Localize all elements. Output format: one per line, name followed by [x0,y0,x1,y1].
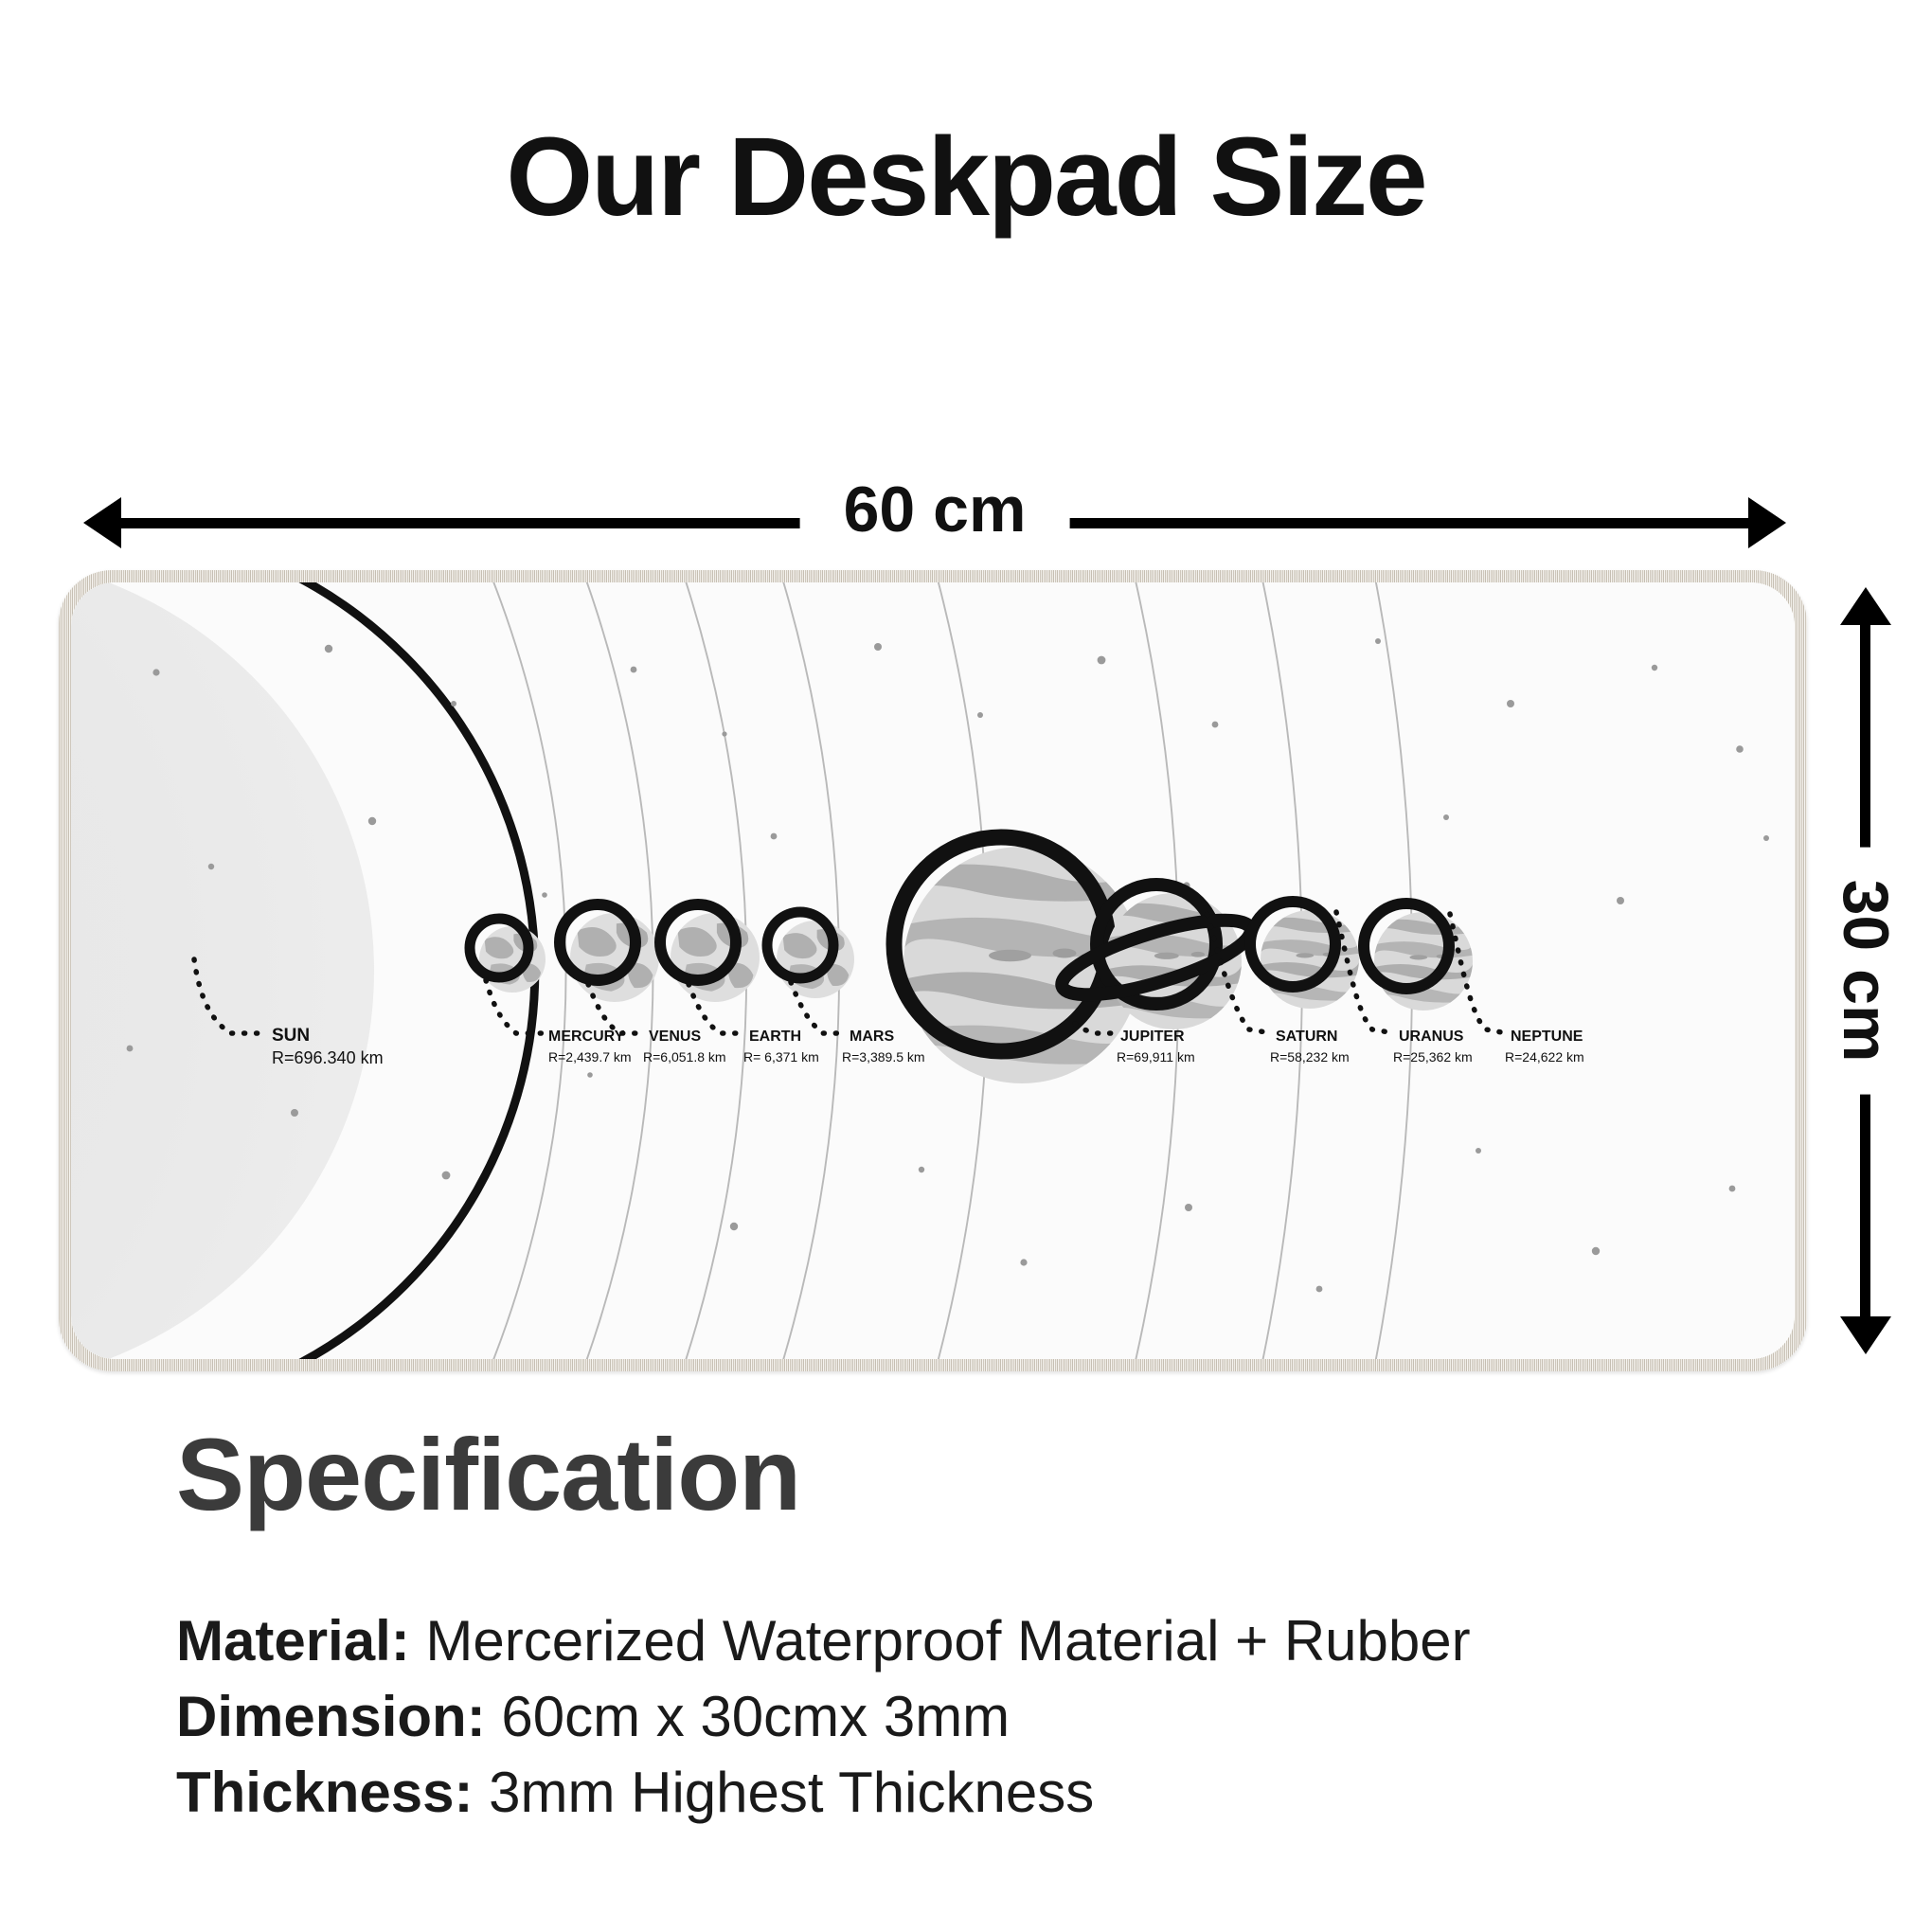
label-saturn-radius: R=58,232 km [1270,1049,1350,1064]
page-title: Our Deskpad Size [0,121,1932,233]
spec-row-dimension: Dimension: 60cm x 30cmx 3mm [176,1679,1786,1755]
label-earth-radius: R= 6,371 km [743,1049,819,1064]
specification-heading: Specification [176,1423,800,1526]
label-mars-radius: R=3,389.5 km [842,1049,925,1064]
spec-label-thickness: Thickness: [176,1761,473,1824]
width-dimension-label: 60 cm [800,473,1070,546]
deskpad-surface: SUN R=696.340 km MERCURY R=2,439.7 km VE… [71,582,1795,1359]
label-jupiter-name: JUPITER [1120,1029,1185,1045]
arrow-down-icon [1840,1316,1891,1354]
label-sun-radius: R=696.340 km [272,1048,384,1067]
label-uranus-radius: R=25,362 km [1393,1049,1473,1064]
width-dimension: 60 cm [83,492,1786,549]
spec-value-thickness: 3mm Highest Thickness [473,1761,1094,1824]
spec-value-material: Mercerized Waterproof Material + Rubber [410,1609,1471,1673]
label-uranus-name: URANUS [1399,1029,1464,1045]
label-venus-radius: R=6,051.8 km [643,1049,726,1064]
spec-label-dimension: Dimension: [176,1685,486,1748]
label-neptune-name: NEPTUNE [1511,1029,1583,1045]
specification-list: Material: Mercerized Waterproof Material… [176,1603,1786,1830]
spec-row-thickness: Thickness: 3mm Highest Thickness [176,1755,1786,1831]
arrow-right-icon [1748,497,1786,548]
label-sun-name: SUN [272,1026,310,1046]
label-venus-name: VENUS [649,1029,701,1045]
label-earth-name: EARTH [749,1029,801,1045]
deskpad-product-image: SUN R=696.340 km MERCURY R=2,439.7 km VE… [59,570,1807,1371]
label-mercury-radius: R=2,439.7 km [548,1049,632,1064]
label-neptune-radius: R=24,622 km [1505,1049,1584,1064]
spec-value-dimension: 60cm x 30cmx 3mm [486,1685,1010,1748]
spec-label-material: Material: [176,1609,410,1673]
label-saturn-name: SATURN [1276,1029,1337,1045]
spec-row-material: Material: Mercerized Waterproof Material… [176,1603,1786,1679]
label-mars-name: MARS [850,1029,894,1045]
height-dimension: 30 cm [1835,587,1896,1354]
height-dimension-label: 30 cm [1829,848,1903,1095]
label-jupiter-radius: R=69,911 km [1117,1049,1195,1064]
solar-system-artwork: SUN R=696.340 km MERCURY R=2,439.7 km VE… [71,582,1795,1359]
label-mercury-name: MERCURY [548,1029,625,1045]
